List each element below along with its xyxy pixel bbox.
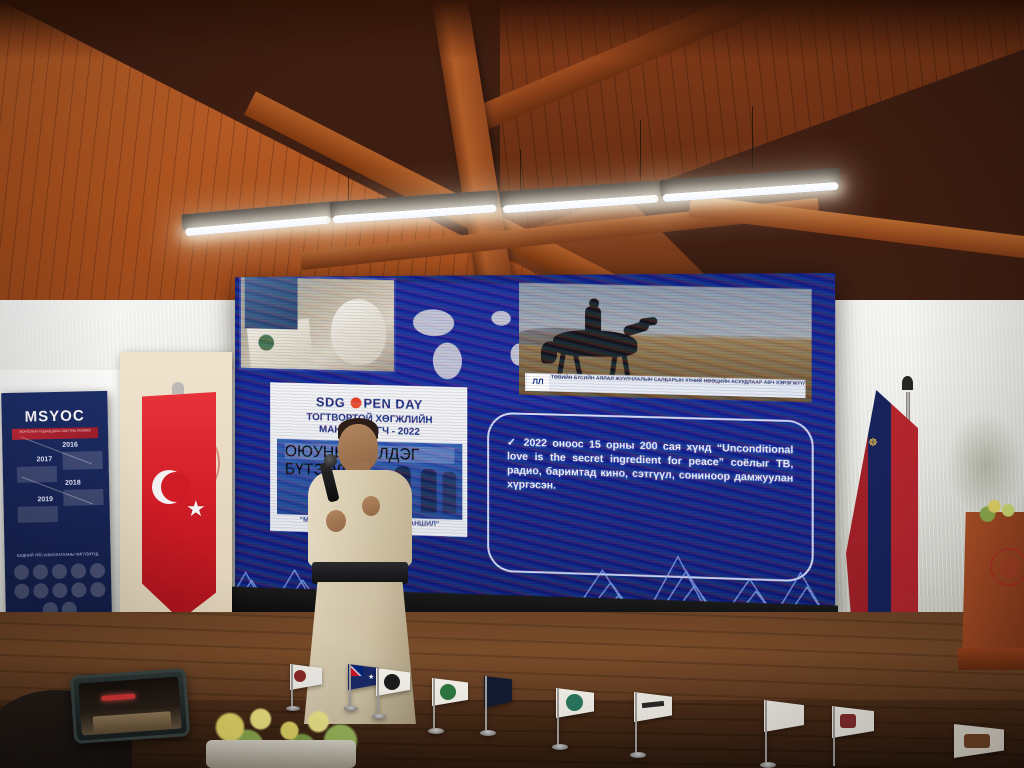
sdg-logo-word: PEN DAY bbox=[363, 396, 422, 412]
table-flag-organization bbox=[372, 668, 412, 716]
pope-figure bbox=[331, 299, 386, 366]
light-suspension-wire bbox=[752, 106, 753, 168]
speaker-hand-left bbox=[326, 510, 346, 532]
flagpole-finial bbox=[172, 382, 184, 394]
msyoc-note-2017 bbox=[17, 466, 57, 483]
msyoc-year-2016: 2016 bbox=[62, 442, 78, 449]
book-seal bbox=[258, 335, 274, 351]
activity-icon bbox=[51, 564, 66, 579]
activity-icon bbox=[70, 563, 85, 578]
table-flag-pole bbox=[485, 676, 487, 732]
horse-head bbox=[639, 317, 658, 327]
msyoc-note-2019 bbox=[18, 506, 58, 523]
msyoc-section-label: БИДНИЙ ҮЙЛ АЖИЛЛАГААНЫ ЧИГЛЭЛҮҮД bbox=[5, 551, 111, 558]
table-flag-base bbox=[630, 752, 646, 758]
phone-preview-content bbox=[93, 711, 172, 735]
activity-icon bbox=[13, 565, 28, 580]
union-jack-canton bbox=[350, 666, 363, 676]
recording-phone[interactable] bbox=[70, 668, 190, 744]
table-flag-white bbox=[630, 692, 674, 758]
table-flag-dark bbox=[480, 676, 520, 736]
table-flag-base bbox=[372, 714, 386, 719]
table-flag-base bbox=[760, 762, 776, 768]
sdg-photo-person bbox=[421, 469, 437, 513]
photo-horse-rider: ТӨВИЙН БҮСИЙН АЯЛАЛ ЖУУЛЧЛАЛЫН САЛБАРЫН … bbox=[519, 283, 812, 403]
table-flag-green bbox=[428, 678, 470, 734]
wooden-podium[interactable] bbox=[962, 512, 1024, 662]
ceiling-shadow bbox=[0, 0, 1024, 60]
msyoc-logo: MSYOC bbox=[2, 407, 108, 426]
crowd-figure bbox=[245, 277, 298, 330]
eave-beam-right bbox=[689, 195, 1024, 258]
slide-text-box: ✓ 2022 оноос 15 орны 200 сая хүнд “Uncon… bbox=[487, 412, 814, 582]
table-flag-base bbox=[480, 730, 496, 736]
msyoc-icon-grid bbox=[11, 563, 108, 618]
activity-icon bbox=[89, 563, 104, 578]
conference-hall-photo: SDG PEN DAY ТОГТВОРТОЙ ХӨГЖЛИЙН МАНЛАЙЛА… bbox=[0, 0, 1024, 768]
broadcaster-logo: ЛЛ bbox=[527, 374, 549, 391]
microphone-head bbox=[324, 454, 337, 467]
activity-icon bbox=[14, 584, 29, 599]
table-flag-base bbox=[428, 728, 444, 734]
bouquet-basket bbox=[206, 740, 356, 768]
table-flag-far-right-2 bbox=[828, 706, 876, 768]
activity-icon bbox=[33, 583, 48, 598]
table-flag-corner bbox=[950, 724, 1006, 768]
table-flag-base bbox=[552, 744, 568, 750]
speaker-sash bbox=[312, 562, 408, 584]
msyoc-note-2018 bbox=[63, 489, 103, 506]
msyoc-year-2017: 2017 bbox=[37, 456, 53, 463]
activity-icon bbox=[71, 582, 86, 597]
checkmark-icon: ✓ bbox=[507, 436, 518, 448]
flagpole-finial bbox=[902, 376, 913, 390]
table-flag-pole bbox=[765, 700, 767, 764]
rider-head bbox=[589, 298, 599, 308]
table-flag-pole bbox=[377, 668, 379, 716]
speaker-hand-right bbox=[362, 496, 380, 516]
table-flag-emblem bbox=[294, 670, 306, 682]
table-flag-emblem bbox=[840, 714, 856, 728]
activity-icon bbox=[90, 582, 105, 597]
soyombo-symbol-icon: ☸ bbox=[868, 438, 878, 449]
light-suspension-wire bbox=[640, 120, 641, 178]
msyoc-year-2019-a: 2019 bbox=[37, 496, 53, 503]
activity-icon bbox=[32, 564, 47, 579]
table-flag-emblem bbox=[384, 674, 400, 690]
sdg-wheel-icon bbox=[351, 397, 362, 408]
horse-tail bbox=[541, 341, 557, 363]
timber-ceiling bbox=[0, 0, 1024, 300]
sdg-logo-text: SDG bbox=[316, 394, 345, 410]
podium-flowers bbox=[976, 496, 1022, 522]
table-flag-emblem bbox=[964, 734, 990, 748]
turkey-star-icon: ★ bbox=[186, 498, 206, 520]
rec-indicator bbox=[101, 694, 135, 701]
slide-text-body: ✓ 2022 оноос 15 орны 200 сая хүнд “Uncon… bbox=[507, 436, 793, 500]
table-flag-emblem bbox=[440, 684, 456, 700]
table-flag-pole bbox=[557, 688, 559, 746]
podium-base bbox=[958, 648, 1024, 670]
table-flag-teal bbox=[552, 688, 596, 750]
sdg-photo-person bbox=[442, 471, 456, 513]
activity-icon bbox=[52, 583, 67, 598]
table-flag-pole bbox=[635, 692, 637, 754]
rider-body bbox=[585, 306, 601, 334]
table-flag-far-right bbox=[760, 700, 806, 768]
sdg-logo: SDG PEN DAY bbox=[271, 393, 468, 413]
table-flag-cloth bbox=[764, 700, 804, 732]
photo-pope bbox=[239, 275, 396, 374]
table-flag-pole bbox=[833, 706, 835, 766]
podium-emblem-center bbox=[1000, 558, 1020, 578]
slide-text-content: 2022 оноос 15 орны 200 сая хүнд “Uncondi… bbox=[507, 437, 793, 492]
msyoc-year-2018: 2018 bbox=[65, 479, 81, 486]
table-flag-pole bbox=[433, 678, 435, 730]
flag-turkey: ★ bbox=[142, 392, 216, 620]
phone-screen bbox=[78, 677, 181, 736]
podium-emblem bbox=[990, 548, 1024, 586]
table-flag-cloth bbox=[484, 676, 512, 708]
table-flag-emblem bbox=[566, 694, 583, 711]
